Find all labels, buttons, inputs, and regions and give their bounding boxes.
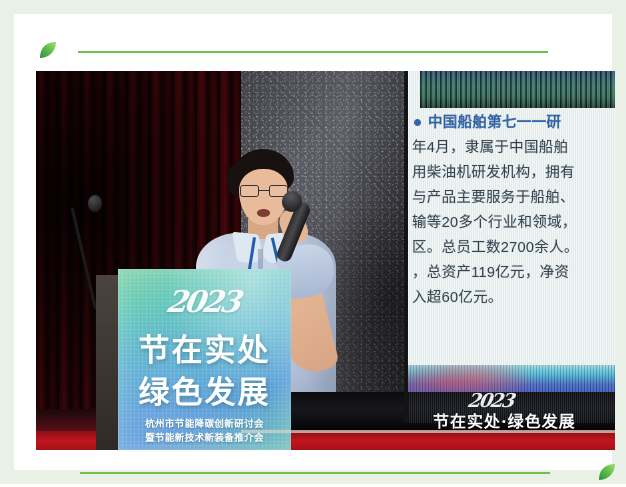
divider-top: [78, 51, 548, 53]
slide-line: 用柴油机研发机构，拥有: [412, 161, 611, 186]
banner-title-line2: 绿色发展: [118, 367, 291, 412]
eyeglasses-icon: [240, 185, 288, 197]
slide-line: 输等20多个行业和领域，: [412, 211, 611, 236]
banner-year: 2023: [118, 285, 291, 320]
slide-line: ，总资产119亿元，净资: [412, 261, 611, 286]
slide-header-image: [420, 71, 615, 108]
leaf-icon: [38, 40, 58, 60]
stage-band-text: 节在实处·绿色发展: [433, 408, 576, 432]
slide-line: 与产品主要服务于船舶、: [412, 186, 611, 211]
podium-banner: 2023 节在实处 绿色发展 杭州市节能降碳创新研讨会 暨节能新技术新装备推介会: [118, 269, 291, 450]
page-root: 中国船舶第七一一研 年4月，隶属于中国船舶 用柴油机研发机构，拥有 与产品主要服…: [0, 0, 626, 484]
slide-text-body: 中国船舶第七一一研 年4月，隶属于中国船舶 用柴油机研发机构，拥有 与产品主要服…: [404, 111, 615, 311]
white-card: 中国船舶第七一一研 年4月，隶属于中国船舶 用柴油机研发机构，拥有 与产品主要服…: [14, 14, 612, 470]
projection-screen: 中国船舶第七一一研 年4月，隶属于中国船舶 用柴油机研发机构，拥有 与产品主要服…: [404, 71, 615, 423]
slide-heading: 中国船舶第七一一研: [412, 111, 611, 136]
slide-line: 年4月，隶属于中国船舶: [412, 136, 611, 161]
leaf-icon: [597, 462, 617, 482]
slide-line: 区。总员工数2700余人。: [412, 236, 611, 261]
speaker-mouth: [257, 209, 270, 217]
event-photo: 中国船舶第七一一研 年4月，隶属于中国船舶 用柴油机研发机构，拥有 与产品主要服…: [36, 71, 615, 450]
stage-edge-trim: [241, 430, 615, 433]
banner-title-line1: 节在实处: [118, 325, 291, 370]
podium: 2023 节在实处 绿色发展 杭州市节能降碳创新研讨会 暨节能新技术新装备推介会: [96, 269, 291, 450]
slide-line: 入超60亿元。: [412, 286, 611, 311]
banner-subtitle-line1: 杭州市节能降碳创新研讨会: [118, 416, 291, 430]
divider-bottom: [80, 472, 550, 474]
bullet-point-icon: [414, 119, 421, 126]
microphone-capsule-icon: [88, 195, 102, 212]
stage-front-band: 2023 节在实处·绿色发展: [241, 392, 615, 432]
